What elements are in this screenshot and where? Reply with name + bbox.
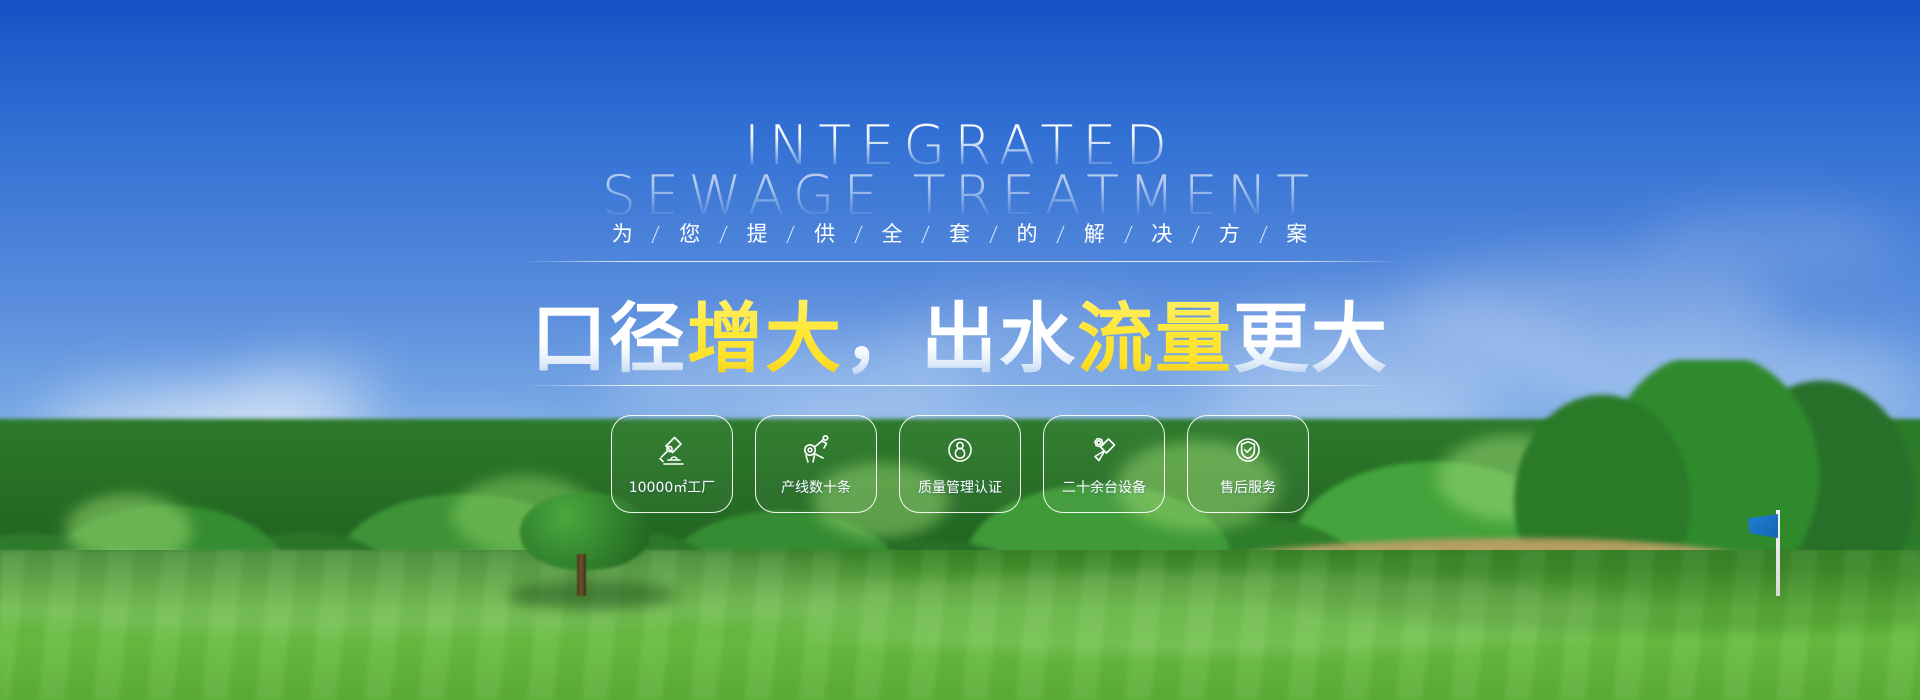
tagline-separator: / xyxy=(921,222,932,246)
tree-trunk xyxy=(577,554,586,596)
tagline: 为 / 您 / 提 / 供 / 全 / 套 / 的 / 解 / 决 / 方 / … xyxy=(0,218,1920,248)
feature-badge-after-sales[interactable]: 售后服务 xyxy=(1187,415,1309,513)
feature-badge-label: 二十余台设备 xyxy=(1062,477,1146,497)
headline-segment: 更大 xyxy=(1233,294,1389,383)
tagline-separator: / xyxy=(1258,222,1269,246)
feature-badge-label: 产线数十条 xyxy=(781,477,851,497)
feature-badge-label: 质量管理认证 xyxy=(918,477,1002,497)
tagline-separator: / xyxy=(719,222,730,246)
tagline-char: 的 xyxy=(1005,218,1049,248)
fairway-grass xyxy=(0,550,1920,700)
tagline-char: 案 xyxy=(1275,218,1319,248)
main-headline: 口径增大，出水流量更大 xyxy=(0,277,1920,387)
certified-person-icon xyxy=(940,430,980,470)
tagline-char: 为 xyxy=(601,218,645,248)
tagline-separator: / xyxy=(988,222,999,246)
feature-badge-factory[interactable]: 10000㎡工厂 xyxy=(611,415,733,513)
tagline-char: 决 xyxy=(1140,218,1184,248)
bolt-tool-icon xyxy=(1084,430,1124,470)
production-machine-icon xyxy=(796,430,836,470)
tagline-char: 提 xyxy=(736,218,780,248)
tagline-char: 您 xyxy=(668,218,712,248)
tagline-separator: / xyxy=(1123,222,1134,246)
tagline-char: 供 xyxy=(803,218,847,248)
divider-bottom xyxy=(520,385,1400,386)
tagline-char: 全 xyxy=(871,218,915,248)
tagline-separator: / xyxy=(651,222,662,246)
feature-badge-list: 10000㎡工厂 产线数十条 xyxy=(0,415,1920,513)
headline-segment: ，出水 xyxy=(843,294,1077,383)
feature-badge-label: 10000㎡工厂 xyxy=(629,477,716,497)
microscope-icon xyxy=(652,430,692,470)
tagline-separator: / xyxy=(1191,222,1202,246)
tagline-char: 解 xyxy=(1073,218,1117,248)
hero-banner: INTEGRATED SEWAGE TREATMENT 为 / 您 / 提 / … xyxy=(0,0,1920,700)
tagline-char: 套 xyxy=(938,218,982,248)
headline-segment-highlight: 流量 xyxy=(1077,294,1233,383)
headline-segment-highlight: 增大 xyxy=(687,294,843,383)
tagline-char: 方 xyxy=(1208,218,1252,248)
tagline-separator: / xyxy=(854,222,865,246)
feature-badge-production-lines[interactable]: 产线数十条 xyxy=(755,415,877,513)
tree-shadow xyxy=(508,580,676,610)
headline-segment: 口径 xyxy=(531,294,687,383)
feature-badge-quality-certification[interactable]: 质量管理认证 xyxy=(899,415,1021,513)
divider-top xyxy=(520,261,1400,262)
feature-badge-equipment[interactable]: 二十余台设备 xyxy=(1043,415,1165,513)
shield-check-icon xyxy=(1228,430,1268,470)
english-headline-line2: SEWAGE TREATMENT xyxy=(0,170,1920,222)
golf-flag xyxy=(1762,510,1796,596)
feature-badge-label: 售后服务 xyxy=(1220,477,1276,497)
tagline-separator: / xyxy=(786,222,797,246)
tagline-separator: / xyxy=(1056,222,1067,246)
